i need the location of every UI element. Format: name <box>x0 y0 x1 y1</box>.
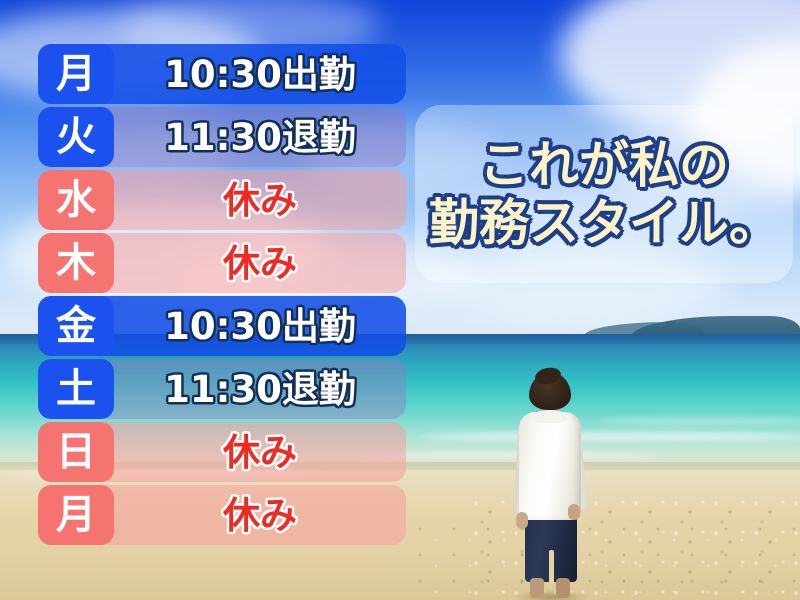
person-leg-gap <box>549 550 554 584</box>
day-value: 休み <box>114 422 406 482</box>
person-left-leg <box>530 578 544 598</box>
day-value: 11:30退勤 <box>114 359 406 419</box>
person-left-hand <box>516 512 528 529</box>
schedule-row: 日 休み <box>38 422 406 482</box>
day-value: 休み <box>114 485 406 545</box>
day-value: 休み <box>114 170 406 230</box>
pebble-texture <box>410 520 800 600</box>
day-value: 休み <box>114 233 406 293</box>
day-badge: 土 <box>38 359 114 419</box>
day-value: 11:30退勤 <box>114 107 406 167</box>
caption-line-1: これが私の <box>479 137 729 193</box>
person-right-hand <box>568 504 580 520</box>
wave-foam <box>600 418 800 424</box>
day-badge: 金 <box>38 296 114 356</box>
person-facing-ocean <box>505 372 595 600</box>
person-shadow <box>511 590 591 600</box>
caption-line-2: 勤務スタイル。 <box>429 195 779 251</box>
day-badge: 月 <box>38 485 114 545</box>
schedule-graphic: 月 10:30出勤 火 11:30退勤 水 休み 木 休み 金 10:30出勤 … <box>0 0 800 600</box>
schedule-row: 月 10:30出勤 <box>38 44 406 104</box>
day-badge: 月 <box>38 44 114 104</box>
schedule-row: 水 休み <box>38 170 406 230</box>
caption-text-block: これが私の 勤務スタイル。 <box>415 105 793 283</box>
schedule-row: 金 10:30出勤 <box>38 296 406 356</box>
schedule-row: 月 休み <box>38 485 406 545</box>
day-badge: 火 <box>38 107 114 167</box>
day-badge: 木 <box>38 233 114 293</box>
day-value: 10:30出勤 <box>114 44 406 104</box>
wave-foam <box>420 432 800 441</box>
day-badge: 水 <box>38 170 114 230</box>
weekly-schedule-list: 月 10:30出勤 火 11:30退勤 水 休み 木 休み 金 10:30出勤 … <box>0 0 410 600</box>
schedule-row: 火 11:30退勤 <box>38 107 406 167</box>
person-right-leg <box>556 578 570 598</box>
schedule-row: 土 11:30退勤 <box>38 359 406 419</box>
schedule-row: 木 休み <box>38 233 406 293</box>
person-collar <box>533 410 567 423</box>
day-badge: 日 <box>38 422 114 482</box>
day-value: 10:30出勤 <box>114 296 406 356</box>
